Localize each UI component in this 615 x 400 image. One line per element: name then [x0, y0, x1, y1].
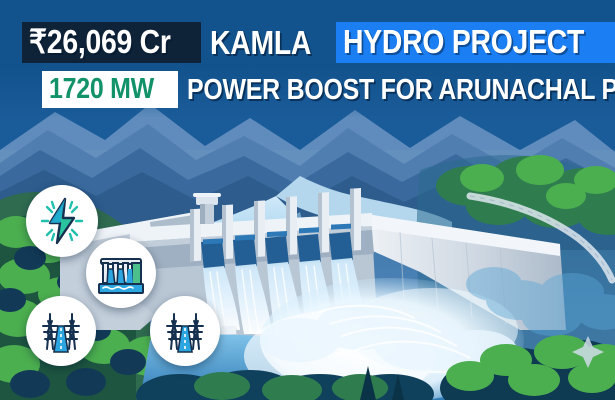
feature-badge-group — [0, 0, 615, 400]
hydro-dam-icon — [94, 246, 148, 300]
badge-transmission-2 — [150, 296, 220, 366]
badge-hydro-dam — [86, 238, 156, 308]
badge-lightning — [26, 185, 98, 257]
badge-transmission-1 — [26, 296, 96, 366]
hydro-project-poster: ₹26,069 Cr KAMLA HYDRO PROJECT APPROVED … — [0, 0, 615, 400]
transmission-tower-icon — [158, 304, 212, 358]
transmission-tower-icon — [34, 304, 88, 358]
lightning-bolt-icon — [35, 194, 89, 248]
